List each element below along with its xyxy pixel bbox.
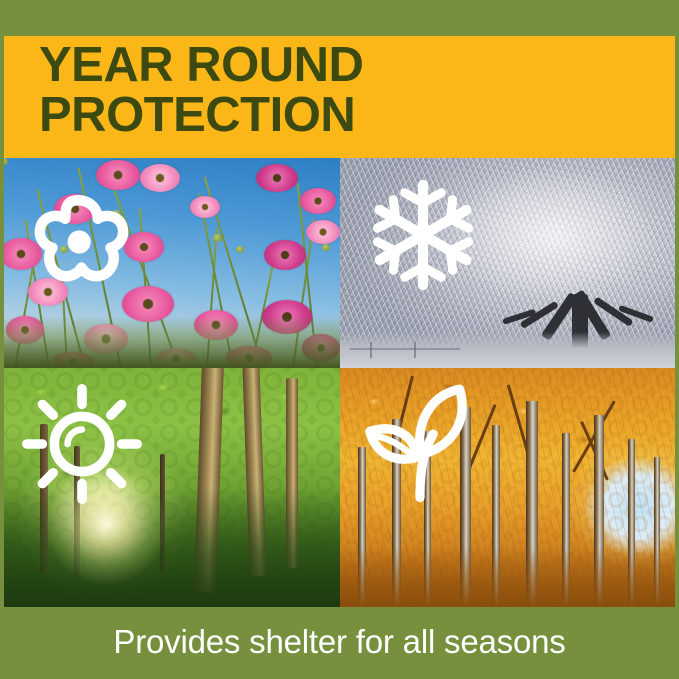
season-tile-winter [340, 158, 679, 368]
season-tile-summer [0, 368, 340, 607]
summer-photo [0, 368, 340, 607]
season-image-grid [0, 158, 679, 607]
top-green-fill [0, 0, 679, 38]
tagline: Provides shelter for all seasons [0, 613, 679, 671]
season-tile-spring [0, 158, 340, 368]
product-feature-poster: YEAR ROUND PROTECTION [0, 0, 679, 679]
headline-line-1: YEAR ROUND [39, 41, 639, 89]
season-tile-autumn [340, 368, 679, 607]
page-title: YEAR ROUND PROTECTION [39, 41, 639, 139]
autumn-photo [340, 368, 679, 607]
headline-line-2: PROTECTION [39, 91, 639, 139]
winter-photo [340, 158, 679, 368]
spring-photo [0, 158, 340, 368]
